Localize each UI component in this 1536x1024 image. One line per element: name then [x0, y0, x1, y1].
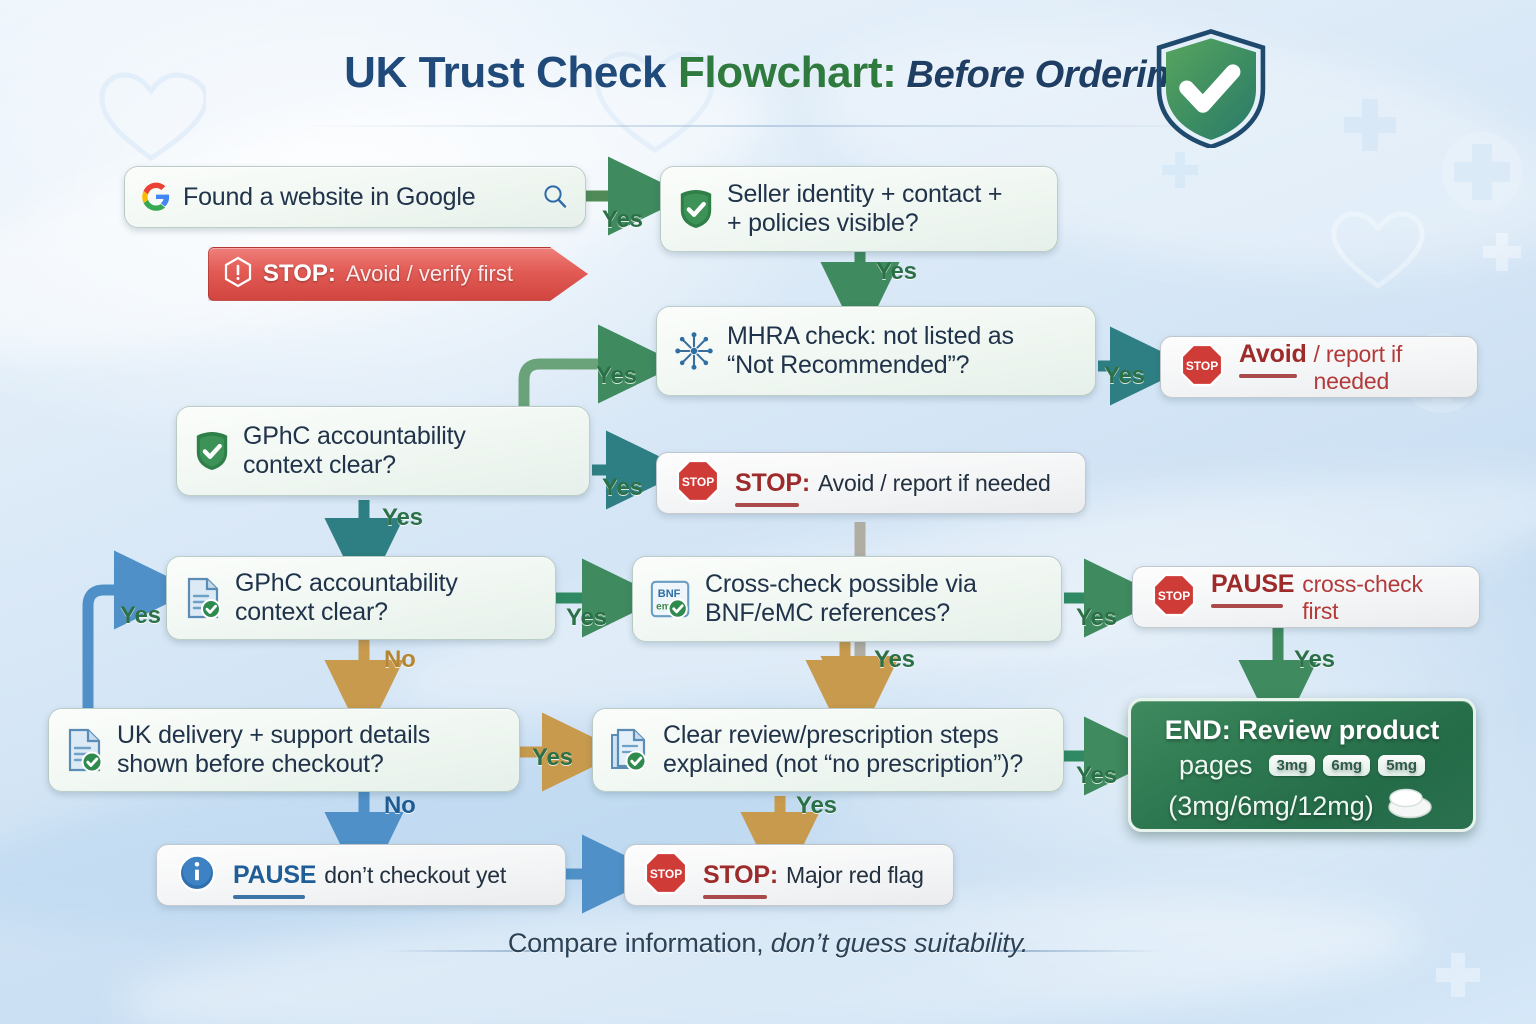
result-lead: PAUSE — [233, 861, 316, 890]
dose-badge: 5mg — [1378, 755, 1425, 776]
document-check-icon — [65, 727, 105, 773]
end-line-2-row: pages 3mg 6mg 5mg — [1149, 750, 1455, 781]
node-label-line2: shown before checkout? — [117, 750, 384, 778]
result-lead: PAUSE — [1211, 570, 1294, 599]
node-label-line1: MHRA check: not listed as — [727, 322, 1014, 350]
node-label: Clear review/prescription steps explaine… — [663, 721, 1023, 779]
banner-lead: STOP: — [263, 260, 336, 288]
result-rest: Major red flag — [786, 862, 924, 889]
edge-label-delivery-to-review: Yes — [532, 744, 573, 772]
bnf-emc-icon: BNF emc — [649, 577, 693, 621]
edge-label-mhra-to-avoid: Yes — [1104, 362, 1145, 390]
node-label: Seller identity + contact + + policies v… — [727, 180, 1002, 238]
result-lead: Avoid — [1239, 340, 1307, 369]
shield-check-icon — [193, 430, 231, 472]
end-line-3-row: (3mg/6mg/12mg) — [1149, 787, 1455, 826]
node-found-website-google[interactable]: Found a website in Google — [124, 166, 586, 228]
node-review-prescription-steps[interactable]: Clear review/prescription steps explaine… — [592, 708, 1064, 792]
edge-label-review-to-end: Yes — [1076, 762, 1117, 790]
node-label-line2: context clear? — [243, 451, 396, 479]
result-rest: / report if needed — [1314, 341, 1459, 395]
edge-label-mhra-from-left: Yes — [596, 362, 637, 390]
shield-check-icon — [1152, 28, 1270, 148]
node-uk-delivery-support[interactable]: UK delivery + support details shown befo… — [48, 708, 520, 792]
footer-text-normal: Compare information, — [508, 928, 771, 958]
result-pause-crosscheck[interactable]: STOP PAUSE cross-check first — [1132, 566, 1480, 628]
medical-cross-watermark — [1480, 230, 1524, 274]
heart-watermark — [1330, 210, 1426, 290]
node-label: MHRA check: not listed as “Not Recommend… — [727, 322, 1014, 380]
footer-text-italic: don’t guess suitability. — [771, 928, 1028, 958]
node-gphc-accountability-b[interactable]: GPhC accountability context clear? — [166, 556, 556, 640]
node-label-line2: + policies visible? — [727, 209, 918, 237]
page-title: UK Trust Check Flowchart: Before Orderin… — [0, 48, 1536, 98]
burst-icon — [673, 330, 715, 372]
warning-hexagon-icon — [223, 256, 253, 293]
edge-label-gphc-b-from-left: Yes — [120, 602, 161, 630]
svg-text:STOP: STOP — [650, 866, 682, 880]
svg-text:STOP: STOP — [1186, 358, 1218, 372]
svg-text:STOP: STOP — [1158, 588, 1190, 602]
documents-check-icon — [609, 727, 651, 773]
stop-sign-icon: STOP — [675, 458, 721, 509]
node-label-line2: BNF/eMC references? — [705, 599, 950, 627]
medical-cross-watermark — [1160, 150, 1200, 190]
svg-text:BNF: BNF — [658, 588, 681, 600]
result-lead: STOP: — [703, 861, 778, 890]
shield-check-icon — [677, 188, 715, 230]
flowchart-canvas: UK Trust Check Flowchart: Before Orderin… — [0, 0, 1536, 1024]
node-mhra-check[interactable]: MHRA check: not listed as “Not Recommend… — [656, 306, 1096, 396]
node-label: Found a website in Google — [183, 183, 475, 212]
banner-stop-avoid-verify[interactable]: STOP: Avoid / verify first — [208, 247, 588, 301]
result-stop-avoid-report[interactable]: STOP STOP: Avoid / report if needed — [656, 452, 1086, 514]
result-avoid-report[interactable]: STOP Avoid / report if needed — [1160, 336, 1478, 398]
footer-note: Compare information, don’t guess suitabi… — [0, 928, 1536, 959]
result-rest: don’t checkout yet — [324, 862, 506, 889]
node-label-line2: “Not Recommended”? — [727, 351, 969, 379]
result-pause-dont-checkout[interactable]: PAUSE don’t checkout yet — [156, 844, 566, 906]
node-seller-identity[interactable]: Seller identity + contact + + policies v… — [660, 166, 1058, 252]
node-label-line1: Cross-check possible via — [705, 570, 977, 598]
title-part-1: UK Trust Check — [344, 48, 678, 97]
result-lead: STOP: — [735, 469, 810, 498]
result-rest: cross-check first — [1302, 571, 1461, 625]
edge-label-gphc-b-down-no: No — [384, 646, 416, 674]
result-rest: Avoid / report if needed — [818, 470, 1051, 497]
svg-text:STOP: STOP — [682, 474, 714, 488]
title-divider — [300, 125, 1240, 127]
node-label: UK delivery + support details shown befo… — [117, 721, 430, 779]
edge-label-gphc-b-to-bnf: Yes — [566, 604, 607, 632]
banner-rest: Avoid / verify first — [346, 261, 513, 287]
dose-badges: 3mg 6mg 5mg — [1269, 755, 1426, 776]
end-line-3: (3mg/6mg/12mg) — [1168, 791, 1374, 822]
node-label-line1: UK delivery + support details — [117, 721, 430, 749]
medical-cross-watermark — [1440, 130, 1524, 214]
title-part-2: Flowchart: — [678, 48, 896, 97]
medical-cross-watermark — [1340, 95, 1400, 155]
node-label-line1: Seller identity + contact + — [727, 180, 1002, 208]
stop-sign-icon: STOP — [1151, 572, 1197, 623]
edge-label-gphc-a-down: Yes — [382, 504, 423, 532]
info-circle-icon — [175, 851, 219, 900]
edge-label-bnf-down: Yes — [874, 646, 915, 674]
node-bnf-emc-crosscheck[interactable]: BNF emc Cross-check possible via BNF/eMC… — [632, 556, 1062, 642]
node-label-line1: GPhC accountability — [235, 569, 458, 597]
end-line-1: END: Review product — [1149, 715, 1455, 746]
google-g-icon — [141, 182, 171, 212]
node-label-line1: GPhC accountability — [243, 422, 466, 450]
edge-label-google-to-seller: Yes — [602, 206, 643, 234]
magnifier-icon — [541, 183, 569, 211]
edge-label-delivery-down-no: No — [384, 792, 416, 820]
node-gphc-accountability-a[interactable]: GPhC accountability context clear? — [176, 406, 590, 496]
end-line-2: pages — [1179, 750, 1253, 781]
edge-label-pause-down: Yes — [1294, 646, 1335, 674]
stop-sign-icon: STOP — [1179, 342, 1225, 393]
node-label: Cross-check possible via BNF/eMC referen… — [705, 570, 977, 628]
stop-sign-icon: STOP — [643, 850, 689, 901]
node-label: GPhC accountability context clear? — [243, 422, 466, 480]
node-end-review-product-pages[interactable]: END: Review product pages 3mg 6mg 5mg (3… — [1128, 698, 1476, 832]
title-part-3: Before Ordering — [896, 54, 1192, 96]
edge-label-seller-to-mhra: Yes — [876, 258, 917, 286]
node-label-line1: Clear review/prescription steps — [663, 721, 999, 749]
edge-label-gphc-a-to-stop: Yes — [602, 474, 643, 502]
dose-badge: 3mg — [1269, 755, 1316, 776]
dose-badge: 6mg — [1323, 755, 1370, 776]
pill-icon — [1382, 787, 1436, 826]
document-check-icon — [183, 576, 223, 620]
node-label-line2: explained (not “no prescription”)? — [663, 750, 1023, 778]
result-stop-major-red-flag[interactable]: STOP STOP: Major red flag — [624, 844, 954, 906]
node-label: GPhC accountability context clear? — [235, 569, 458, 627]
edge-label-bnf-to-pause: Yes — [1076, 604, 1117, 632]
edge-label-review-down: Yes — [796, 792, 837, 820]
node-label-line2: context clear? — [235, 598, 388, 626]
